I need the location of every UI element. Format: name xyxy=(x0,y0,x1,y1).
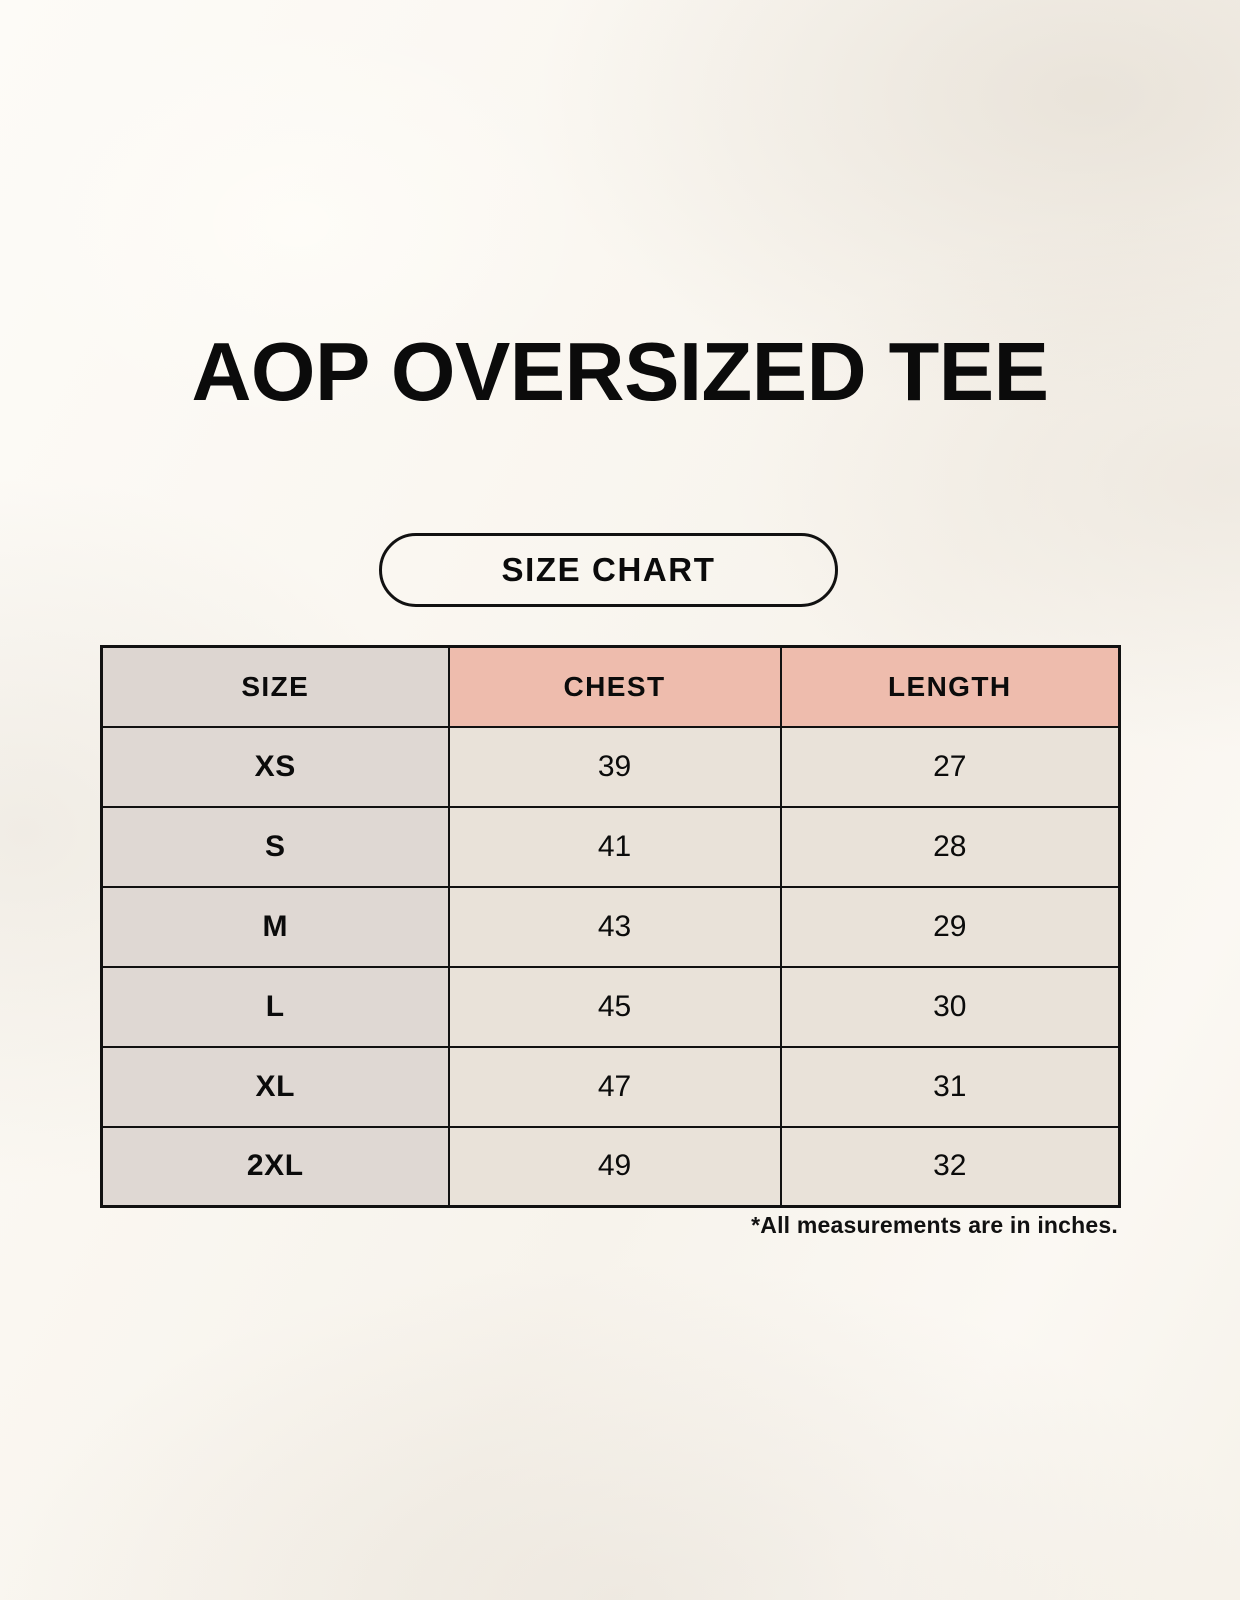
size-table-container: SIZE CHEST LENGTH XS 39 27 S 41 28 M xyxy=(100,645,1118,1208)
cell-chest: 47 xyxy=(449,1047,781,1127)
cell-size: XL xyxy=(102,1047,449,1127)
measurement-unit-note: *All measurements are in inches. xyxy=(100,1212,1118,1239)
table-row: XS 39 27 xyxy=(102,727,1120,807)
table-header: SIZE CHEST LENGTH xyxy=(102,647,1120,727)
cell-chest: 45 xyxy=(449,967,781,1047)
table-row: XL 47 31 xyxy=(102,1047,1120,1127)
cell-length: 28 xyxy=(781,807,1120,887)
column-header-length: LENGTH xyxy=(781,647,1120,727)
size-chart-table: SIZE CHEST LENGTH XS 39 27 S 41 28 M xyxy=(100,645,1121,1208)
table-header-row: SIZE CHEST LENGTH xyxy=(102,647,1120,727)
cell-length: 30 xyxy=(781,967,1120,1047)
cell-size: L xyxy=(102,967,449,1047)
page-title: AOP OVERSIZED TEE xyxy=(170,332,1070,412)
cell-length: 32 xyxy=(781,1127,1120,1207)
cell-length: 31 xyxy=(781,1047,1120,1127)
column-header-chest: CHEST xyxy=(449,647,781,727)
cell-length: 27 xyxy=(781,727,1120,807)
table-row: S 41 28 xyxy=(102,807,1120,887)
size-chart-badge: SIZE CHART xyxy=(379,533,838,607)
cell-size: 2XL xyxy=(102,1127,449,1207)
cell-size: M xyxy=(102,887,449,967)
size-chart-page: AOP OVERSIZED TEE SIZE CHART SIZE CHEST … xyxy=(0,0,1240,1600)
table-row: L 45 30 xyxy=(102,967,1120,1047)
column-header-size: SIZE xyxy=(102,647,449,727)
cell-chest: 43 xyxy=(449,887,781,967)
cell-chest: 41 xyxy=(449,807,781,887)
cell-chest: 49 xyxy=(449,1127,781,1207)
cell-size: XS xyxy=(102,727,449,807)
size-chart-badge-label: SIZE CHART xyxy=(502,551,716,589)
cell-size: S xyxy=(102,807,449,887)
table-row: M 43 29 xyxy=(102,887,1120,967)
table-row: 2XL 49 32 xyxy=(102,1127,1120,1207)
table-body: XS 39 27 S 41 28 M 43 29 L 45 30 xyxy=(102,727,1120,1207)
cell-chest: 39 xyxy=(449,727,781,807)
cell-length: 29 xyxy=(781,887,1120,967)
